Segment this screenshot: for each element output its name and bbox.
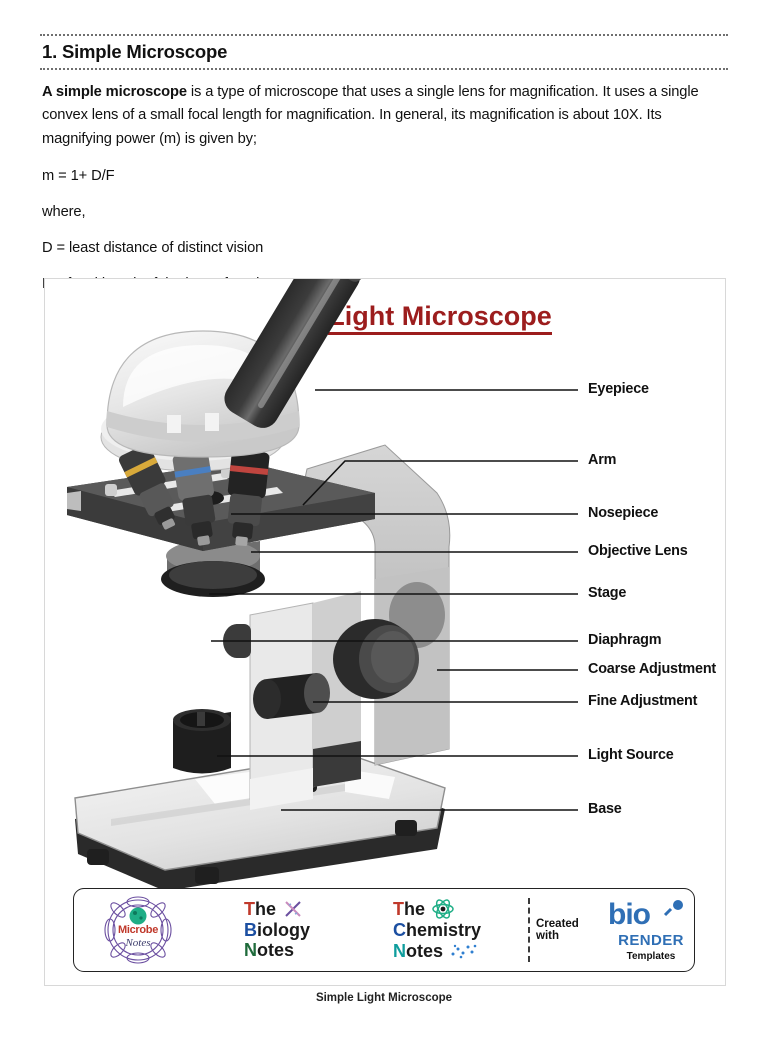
- biorender-templates-text: Templates: [608, 951, 694, 962]
- bio-biology-initial: B: [244, 920, 257, 940]
- label-stage-text: Stage: [588, 585, 626, 601]
- figure-caption: Simple Light Microscope: [0, 992, 768, 1004]
- bio-the-rest: he: [255, 899, 276, 919]
- label-arm-text: Arm: [588, 452, 616, 468]
- chem-the-rest: he: [404, 899, 425, 919]
- biorender-render-text: RENDER: [608, 932, 694, 949]
- bio-the-initial: T: [244, 899, 255, 919]
- microbe-notes-logo: Microbe Notes: [74, 889, 202, 971]
- molecule-dots-icon: [449, 942, 479, 960]
- bio-notes-rest: otes: [257, 940, 294, 960]
- logo-bar-divider: [528, 898, 530, 962]
- chemistry-notes-logo: The Chemistry Notes: [352, 889, 522, 971]
- microbe-logo-line2: Notes: [102, 937, 174, 949]
- bio-notes-initial: N: [244, 940, 257, 960]
- definition-d: D = least distance of distinct vision: [42, 237, 726, 259]
- chem-notes-rest: otes: [406, 941, 443, 961]
- dna-helix-icon: [282, 899, 304, 919]
- intro-lead: A simple microscope: [42, 84, 187, 100]
- biorender-credit: Created with bio RENDER Templates: [536, 898, 694, 963]
- biology-notes-logo: The Biology Notes: [202, 889, 352, 971]
- label-eyepiece-text: Eyepiece: [588, 381, 649, 397]
- label-light-source-text: Light Source: [588, 747, 674, 763]
- where-text: where,: [42, 201, 726, 223]
- created-with-label: Created with: [536, 918, 598, 942]
- label-objective-lens-text: Objective Lens: [588, 543, 688, 559]
- chem-the-initial: T: [393, 899, 404, 919]
- label-diaphragm-text: Diaphragm: [588, 632, 661, 648]
- biorender-wordmark: bio: [608, 898, 694, 933]
- label-base-text: Base: [588, 801, 622, 817]
- label-coarse-adjustment-text: Coarse Adjustment: [588, 661, 716, 677]
- footer-logo-bar: Microbe Notes The Biology: [73, 888, 695, 972]
- label-list: Eyepiece Arm Nosepiece Objective Lens St…: [45, 279, 725, 985]
- label-fine-adjustment-text: Fine Adjustment: [588, 693, 697, 709]
- bio-biology-rest: iology: [257, 920, 310, 940]
- page-title: 1. Simple Microscope: [42, 40, 728, 63]
- page-root: 1. Simple Microscope A simple microscope…: [0, 34, 768, 1058]
- biorender-bio-icon: bio: [608, 898, 694, 928]
- chem-chemistry-rest: hemistry: [406, 920, 481, 940]
- formula-text: m = 1+ D/F: [42, 165, 726, 187]
- label-nosepiece-text: Nosepiece: [588, 505, 658, 521]
- section-heading-rule: 1. Simple Microscope: [40, 34, 728, 70]
- atom-icon: [431, 898, 455, 920]
- microbe-logo-line1: Microbe: [102, 924, 174, 936]
- figure-container: Light Microscope: [44, 278, 726, 986]
- chem-notes-initial: N: [393, 941, 406, 961]
- intro-paragraph: A simple microscope is a type of microsc…: [42, 81, 726, 151]
- chem-chemistry-initial: C: [393, 920, 406, 940]
- biorender-bio-text: bio: [608, 898, 651, 928]
